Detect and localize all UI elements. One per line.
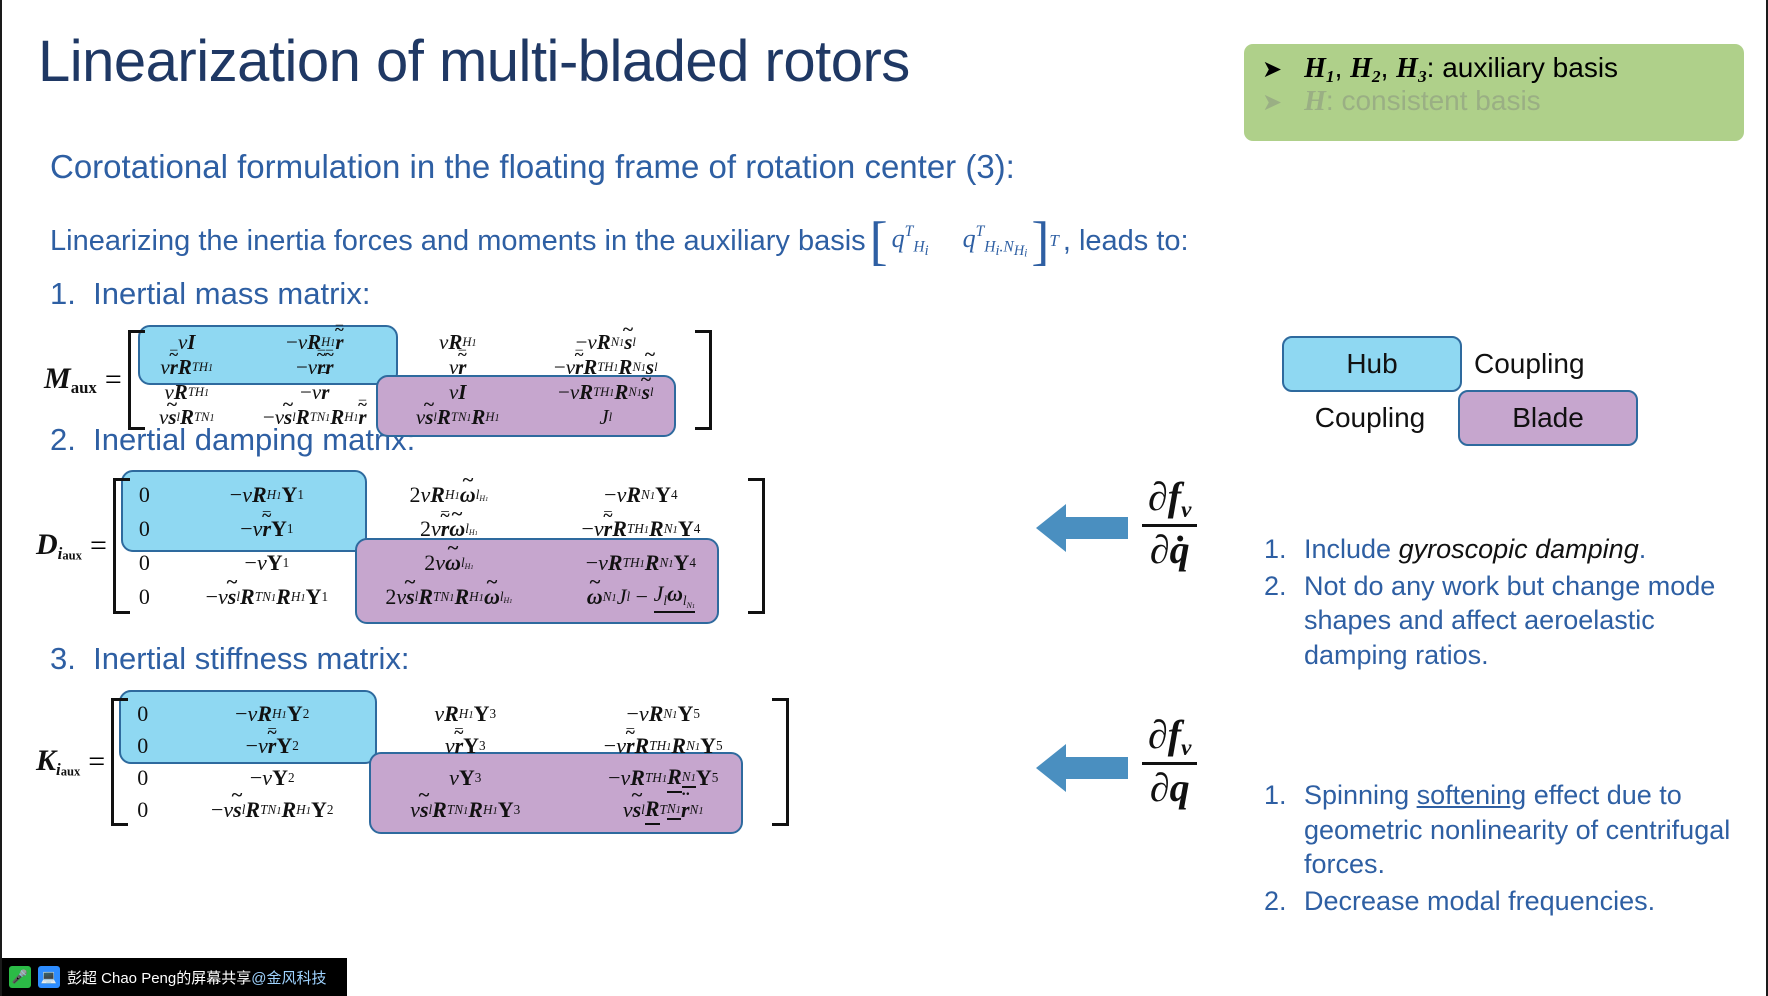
vec-q2-subsub2: H <box>1014 243 1024 259</box>
note-text: Include <box>1304 534 1399 564</box>
note-number: 2. <box>1264 569 1292 673</box>
mass-matrix-equation: Maux = νI −νRH1r νRH1 −νRN1sl νrRTH1 −νr… <box>44 330 710 430</box>
vec-q2: q <box>963 224 976 253</box>
lead-suffix: , leads to: <box>1063 225 1189 258</box>
stiffness-matrix-label: Kiaux <box>36 744 80 780</box>
note-text: Decrease modal frequencies. <box>1304 884 1764 919</box>
damping-notes-list: 1. Include gyroscopic damping. 2. Not do… <box>1264 532 1734 674</box>
note-number: 2. <box>1264 884 1292 919</box>
callout-line-1: ➤ H1, H2, H3: auxiliary basis <box>1262 52 1744 87</box>
legend-block-structure: Hub Coupling Coupling Blade <box>1282 336 1638 446</box>
mass-matrix-label: Maux <box>44 362 97 398</box>
section-heading-1: 1. Inertial mass matrix: <box>50 276 370 312</box>
vec-q2-subsub3: i <box>1024 246 1027 259</box>
section-subhead: Corotational formulation in the floating… <box>50 148 1015 186</box>
watermark-text: @金风科技 <box>251 970 326 987</box>
legend-row-top: Hub Coupling <box>1282 336 1638 392</box>
vec-q1-sub: H <box>913 239 924 256</box>
page-title: Linearization of multi-bladed rotors <box>38 32 910 93</box>
screen-share-icon[interactable]: 💻 <box>38 966 60 988</box>
note-number: 1. <box>1264 778 1292 882</box>
bullet-arrow-icon-2: ➤ <box>1262 91 1282 115</box>
stiffness-deriv-num-sub: v <box>1181 735 1191 761</box>
callout-h1-sub: 1 <box>1326 67 1335 86</box>
share-status-text: 彭超 Chao Peng的屏幕共享 <box>67 970 251 987</box>
damping-derivative-formula: ∂fv ∂q̇ <box>1142 476 1197 571</box>
damping-matrix-label: Diaux <box>36 528 82 564</box>
stiffness-deriv-num: ∂f <box>1148 712 1181 757</box>
damping-equals-sign: = <box>90 529 107 563</box>
damping-deriv-den: ∂q̇ <box>1142 527 1197 571</box>
damping-deriv-num-sub: v <box>1181 497 1191 523</box>
stiffness-arrow-icon <box>1036 740 1128 796</box>
damping-matrix-grid: 0 −νRH1Υ1 2νRH1ωlH1 −νRN1Υ4 0 −νrΥ1 2νrω… <box>129 478 749 614</box>
lead-paragraph: Linearizing the inertia forces and momen… <box>50 222 1189 261</box>
matrix-right-bracket <box>772 698 789 826</box>
legend-row-bottom: Coupling Blade <box>1282 390 1638 446</box>
matrix-left-bracket <box>111 698 128 826</box>
matrix-right-bracket <box>695 330 712 430</box>
note-emphasis: softening <box>1417 780 1527 810</box>
mass-equals-sign: = <box>105 363 122 397</box>
callout-h3-sub: 3 <box>1418 67 1427 86</box>
callout-h1-math: H <box>1304 53 1326 84</box>
legend-coupling-top: Coupling <box>1462 348 1597 380</box>
slide-canvas: Linearization of multi-bladed rotors ➤ H… <box>0 0 1768 996</box>
callout-auxiliary-basis: ➤ H1, H2, H3: auxiliary basis ➤ H: consi… <box>1244 44 1744 141</box>
note-emphasis: gyroscopic damping <box>1399 534 1639 564</box>
callout-h2-sub: 2 <box>1372 67 1381 86</box>
callout-h-math: H <box>1304 86 1326 117</box>
section-2-num: 2. <box>50 422 76 457</box>
legend-blade-box: Blade <box>1458 390 1638 446</box>
damping-matrix: 0 −νRH1Υ1 2νRH1ωlH1 −νRN1Υ4 0 −νrΥ1 2νrω… <box>115 478 763 614</box>
bullet-arrow-icon: ➤ <box>1262 58 1282 82</box>
callout-line-2: ➤ H: consistent basis <box>1262 85 1744 118</box>
section-3-title: Inertial stiffness matrix: <box>93 641 409 676</box>
damping-deriv-num: ∂f <box>1148 474 1181 519</box>
note-item: 2. Not do any work but change mode shape… <box>1264 569 1734 673</box>
note-text: Not do any work but change mode shapes a… <box>1304 569 1734 673</box>
screen-share-taskbar[interactable]: 🎤 💻 彭超 Chao Peng的屏幕共享@金风科技 <box>2 958 347 996</box>
damping-matrix-equation: Diaux = 0 −νRH1Υ1 2νRH1ωlH1 −νRN1Υ4 0 −ν… <box>36 478 763 614</box>
callout-line2-text: : consistent basis <box>1326 85 1541 116</box>
stiffness-notes-list: 1. Spinning softening effect due to geom… <box>1264 778 1764 920</box>
vec-q1: q <box>892 224 905 253</box>
note-text: Spinning <box>1304 780 1417 810</box>
stiffness-equals-sign: = <box>88 745 105 779</box>
mass-matrix: νI −νRH1r νRH1 −νRN1sl νrRTH1 −νrr νr −ν… <box>130 330 710 430</box>
damping-arrow-icon <box>1036 500 1128 556</box>
vec-q1-sup: T <box>905 223 914 240</box>
callout-h3-math: H <box>1396 53 1418 84</box>
stiffness-matrix-grid: 0 −νRH1Υ2 νRH1Υ3 −νRN1Υ5 0 −νrΥ2 νrΥ3 −ν… <box>127 698 773 826</box>
section-3-num: 3. <box>50 641 76 676</box>
section-1-num: 1. <box>50 276 76 311</box>
note-text-post: . <box>1639 534 1647 564</box>
lead-prefix: Linearizing the inertia forces and momen… <box>50 225 866 258</box>
stiffness-matrix: 0 −νRH1Υ2 νRH1Υ3 −νRN1Υ5 0 −νrΥ2 νrΥ3 −ν… <box>113 698 787 826</box>
vec-bracket-sup: T <box>1049 231 1058 251</box>
note-item: 2. Decrease modal frequencies. <box>1264 884 1764 919</box>
note-item: 1. Include gyroscopic damping. <box>1264 532 1734 567</box>
vec-q2-sup: T <box>976 223 985 240</box>
mic-icon[interactable]: 🎤 <box>9 966 31 988</box>
vec-q2-sub2: .N <box>1000 239 1014 256</box>
callout-line1-text: : auxiliary basis <box>1427 52 1618 83</box>
stiffness-matrix-equation: Kiaux = 0 −νRH1Υ2 νRH1Υ3 −νRN1Υ5 0 −νrΥ2… <box>36 698 787 826</box>
stiffness-derivative-formula: ∂fv ∂q <box>1142 714 1197 809</box>
matrix-left-bracket <box>128 330 145 430</box>
stiffness-deriv-den: ∂q <box>1142 765 1197 809</box>
legend-hub-box: Hub <box>1282 336 1462 392</box>
section-heading-3: 3. Inertial stiffness matrix: <box>50 641 410 677</box>
mass-matrix-grid: νI −νRH1r νRH1 −νRN1sl νrRTH1 −νrr νr −ν… <box>144 330 696 430</box>
note-item: 1. Spinning softening effect due to geom… <box>1264 778 1764 882</box>
callout-h2-math: H <box>1350 53 1372 84</box>
section-1-title: Inertial mass matrix: <box>93 276 370 311</box>
lead-vector-math: [ qTHi qTHi.NHi ]T <box>870 222 1059 261</box>
vec-q1-subsub: i <box>925 243 929 259</box>
matrix-left-bracket <box>113 478 130 614</box>
legend-coupling-bottom: Coupling <box>1282 402 1458 434</box>
vec-q2-sub: H <box>984 239 995 256</box>
matrix-right-bracket <box>748 478 765 614</box>
note-number: 1. <box>1264 532 1292 567</box>
